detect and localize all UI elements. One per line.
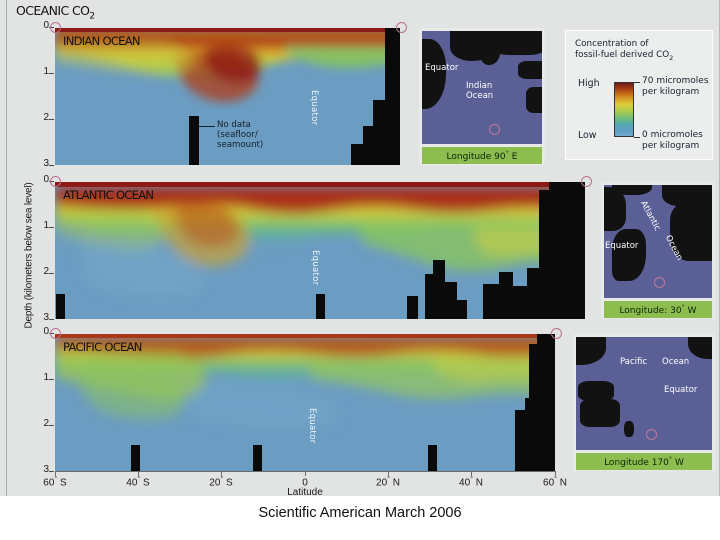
- seafloor-mask-pacific-5: [537, 334, 555, 471]
- landmass-indonesia-pac: [578, 381, 614, 401]
- y-tick-mark-indian-1: [49, 73, 54, 74]
- inset-map-indian: Equator Indian Ocean Longitude 90° E: [419, 28, 545, 165]
- x-tick-label-4: 20° N: [363, 476, 413, 488]
- seafloor-mask-indian-5: [351, 144, 365, 165]
- transect-site-marker-atlantic: [654, 277, 665, 288]
- y-tick-label-indian-0: 0: [27, 20, 49, 31]
- y-tick-label-atlantic-1: 1: [27, 220, 49, 231]
- station-node-atlantic-east: [581, 176, 592, 187]
- y-tick-mark-pacific-1: [49, 379, 54, 380]
- equator-label-atlantic: Equator: [310, 250, 320, 286]
- no-data-annotation: No data (seafloor/ seamount): [217, 120, 263, 150]
- landmass-north-america: [604, 187, 626, 231]
- y-tick-label-indian-2: 2: [27, 112, 49, 123]
- inset-label-equator-pacific: Equator: [664, 385, 697, 395]
- legend-title: Concentration of fossil-fuel derived CO2: [575, 39, 673, 62]
- seafloor-mask-pacific-7: [525, 398, 535, 471]
- seafloor-mask-pacific-1: [131, 445, 140, 471]
- y-tick-mark-atlantic-1: [49, 227, 54, 228]
- no-data-leader-line: [199, 126, 215, 127]
- figure-panel: OCEANIC CO2 Depth (kilometers below sea …: [0, 0, 720, 496]
- panel-label-indian-ocean: INDIAN OCEAN: [63, 34, 140, 48]
- station-node-atlantic-west: [50, 176, 61, 187]
- station-node-pacific-east: [551, 328, 562, 339]
- landmass-new-zealand: [624, 421, 634, 437]
- inset-label-indian: Indian: [466, 81, 493, 91]
- inset-label-ocean-indian: Ocean: [466, 91, 493, 101]
- legend-low-value: 0 micromoles per kilogram: [642, 130, 703, 153]
- seafloor-mask-pacific-2: [253, 445, 262, 471]
- inset-label-pacific: Pacific: [620, 357, 647, 367]
- panel-label-pacific-ocean: PACIFIC OCEAN: [63, 340, 142, 354]
- no-data-line-2: (seafloor/: [217, 130, 263, 140]
- heatmap-pacific-ocean: PACIFIC OCEAN Equator: [55, 334, 555, 471]
- seafloor-mask-indian-1: [189, 116, 199, 165]
- legend-high-label: High: [578, 78, 600, 89]
- y-tick-label-atlantic-3: 3: [27, 312, 49, 323]
- y-tick-mark-indian-2: [49, 119, 54, 120]
- landmass-africa: [422, 39, 446, 109]
- inset-caption-indian: Longitude 90° E: [422, 147, 542, 164]
- landmass-australia: [526, 87, 542, 113]
- seafloor-mask-atlantic-3: [407, 296, 418, 319]
- y-tick-label-atlantic-2: 2: [27, 266, 49, 277]
- heatmap-atlantic-ocean: ATLANTIC OCEAN Equator: [55, 182, 585, 319]
- equator-label-pacific: Equator: [307, 408, 317, 444]
- legend-high-value-line-2: per kilogram: [642, 87, 709, 98]
- equator-label-indian: Equator: [309, 90, 319, 126]
- legend-low-value-line-2: per kilogram: [642, 141, 703, 152]
- colorbar-gradient: [614, 82, 634, 137]
- x-tick-label-6: 60° N: [530, 476, 580, 488]
- station-node-pacific-west: [50, 328, 61, 339]
- inset-map-pacific: Pacific Ocean Equator Longitude 170° W: [573, 334, 715, 471]
- landmass-indonesia: [518, 61, 542, 79]
- seafloor-mask-atlantic-13: [549, 182, 585, 319]
- seafloor-mask-atlantic-1: [56, 294, 65, 319]
- no-data-line-3: seamount): [217, 140, 263, 150]
- seafloor-mask-indian-3: [373, 100, 387, 165]
- x-tick-label-5: 40° N: [446, 476, 496, 488]
- seafloor-mask-atlantic-7: [455, 300, 467, 319]
- y-tick-label-indian-1: 1: [27, 66, 49, 77]
- y-tick-label-pacific-2: 2: [27, 418, 49, 429]
- legend-title-line-2: fossil-fuel derived CO2: [575, 50, 673, 62]
- station-node-indian-east: [396, 22, 407, 33]
- y-tick-label-pacific-1: 1: [27, 372, 49, 383]
- no-data-line-1: No data: [217, 120, 263, 130]
- transect-site-marker-pacific: [646, 429, 657, 440]
- y-tick-mark-indian-3: [49, 165, 54, 166]
- legend-high-value-line-1: 70 micromoles: [642, 76, 709, 87]
- figure-title: OCEANIC CO2: [16, 3, 94, 22]
- x-tick-label-2: 20° S: [196, 476, 246, 488]
- x-tick-label-0: 60° S: [30, 476, 80, 488]
- inset-map-canvas-atlantic: Atlantic Ocean Equator: [604, 185, 712, 298]
- seafloor-mask-atlantic-2: [316, 294, 325, 319]
- legend-low-value-line-1: 0 micromoles: [642, 130, 703, 141]
- y-tick-mark-atlantic-2: [49, 273, 54, 274]
- landmass-india: [480, 43, 500, 65]
- landmass-australia-pac: [580, 399, 620, 427]
- legend-high-value: 70 micromoles per kilogram: [642, 76, 709, 99]
- landmass-asia-pac: [576, 337, 606, 365]
- inset-label-ocean-pacific: Ocean: [662, 357, 689, 367]
- inset-map-canvas-pacific: Pacific Ocean Equator: [576, 337, 712, 450]
- y-tick-mark-pacific-2: [49, 425, 54, 426]
- inset-label-equator-indian: Equator: [425, 63, 458, 73]
- legend-box: Concentration of fossil-fuel derived CO2…: [565, 30, 713, 160]
- seafloor-mask-indian-2: [385, 28, 400, 165]
- landmass-south-america: [612, 229, 646, 281]
- x-axis-title: Latitude: [245, 487, 365, 498]
- y-tick-label-pacific-3: 3: [27, 464, 49, 475]
- colorbar-tick-high: [634, 82, 640, 83]
- inset-label-ocean-name-indian: Indian Ocean: [466, 81, 493, 101]
- source-caption: Scientific American March 2006: [0, 505, 720, 521]
- inset-label-atlantic: Atlantic: [638, 199, 662, 232]
- legend-title-line-1: Concentration of: [575, 39, 673, 50]
- y-tick-mark-pacific-3: [49, 471, 54, 472]
- y-tick-label-atlantic-0: 0: [27, 174, 49, 185]
- landmass-north-america-pac: [688, 337, 712, 359]
- y-tick-mark-atlantic-3: [49, 319, 54, 320]
- seafloor-mask-pacific-3: [428, 445, 437, 471]
- x-tick-label-1: 40° S: [113, 476, 163, 488]
- station-node-indian-west: [50, 22, 61, 33]
- colorbar-tick-low: [634, 137, 640, 138]
- inset-label-equator-atlantic: Equator: [605, 241, 638, 251]
- legend-low-label: Low: [578, 130, 596, 141]
- inset-map-canvas-indian: Equator Indian Ocean: [422, 31, 542, 144]
- inset-caption-atlantic: Longitude: 30° W: [604, 301, 712, 318]
- inset-map-atlantic: Atlantic Ocean Equator Longitude: 30° W: [601, 182, 715, 319]
- y-tick-label-pacific-0: 0: [27, 326, 49, 337]
- panel-label-atlantic-ocean: ATLANTIC OCEAN: [63, 188, 153, 202]
- transect-site-marker-indian: [489, 124, 500, 135]
- y-tick-label-indian-3: 3: [27, 158, 49, 169]
- inset-caption-pacific: Longitude 170° W: [576, 453, 712, 470]
